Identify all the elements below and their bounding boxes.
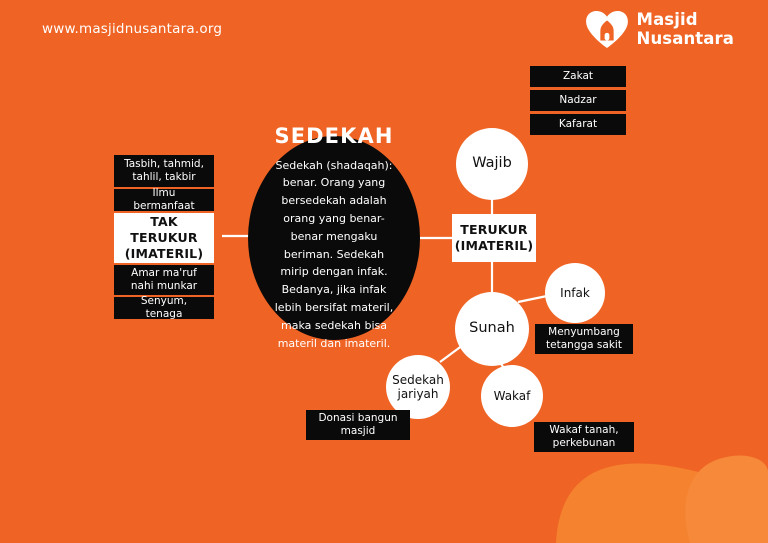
node-infak: Infak (545, 263, 605, 323)
right-category-terukur: TERUKUR (IMATERIL) (452, 214, 536, 262)
node-infak-label: Infak (560, 286, 590, 300)
left-item-0: Tasbih, tahmid, tahlil, takbir (114, 155, 214, 187)
wajib-item-1: Nadzar (530, 90, 626, 111)
node-wajib: Wajib (456, 128, 528, 200)
left-item-1: Ilmu bermanfaat (114, 189, 214, 211)
node-sedekah-jariyah-label: Sedekah jariyah (392, 373, 444, 401)
node-sunah: Sunah (455, 292, 529, 366)
node-wakaf-label: Wakaf (494, 389, 531, 403)
wajib-item-0: Zakat (530, 66, 626, 87)
left-item-3: Senyum, tenaga (114, 297, 214, 319)
node-wakaf: Wakaf (481, 365, 543, 427)
center-description: Sedekah (shadaqah): benar. Orang yang be… (274, 157, 394, 353)
left-category-tak-terukur: TAK TERUKUR (IMATERIL) (114, 213, 214, 263)
infographic-canvas: www.masjidnusantara.org Masjid Nusantara (0, 0, 768, 543)
wajib-item-2: Kafarat (530, 114, 626, 135)
wakaf-example: Wakaf tanah, perkebunan (534, 422, 634, 452)
infak-example: Menyumbang tetangga sakit (535, 324, 633, 354)
center-node-sedekah: SEDEKAH Sedekah (shadaqah): benar. Orang… (248, 136, 420, 340)
node-sunah-label: Sunah (469, 320, 515, 337)
sedekah-jariyah-example: Donasi bangun masjid (306, 410, 410, 440)
left-item-2: Amar ma'ruf nahi munkar (114, 265, 214, 295)
node-wajib-label: Wajib (472, 155, 512, 172)
center-title: SEDEKAH (274, 124, 393, 148)
